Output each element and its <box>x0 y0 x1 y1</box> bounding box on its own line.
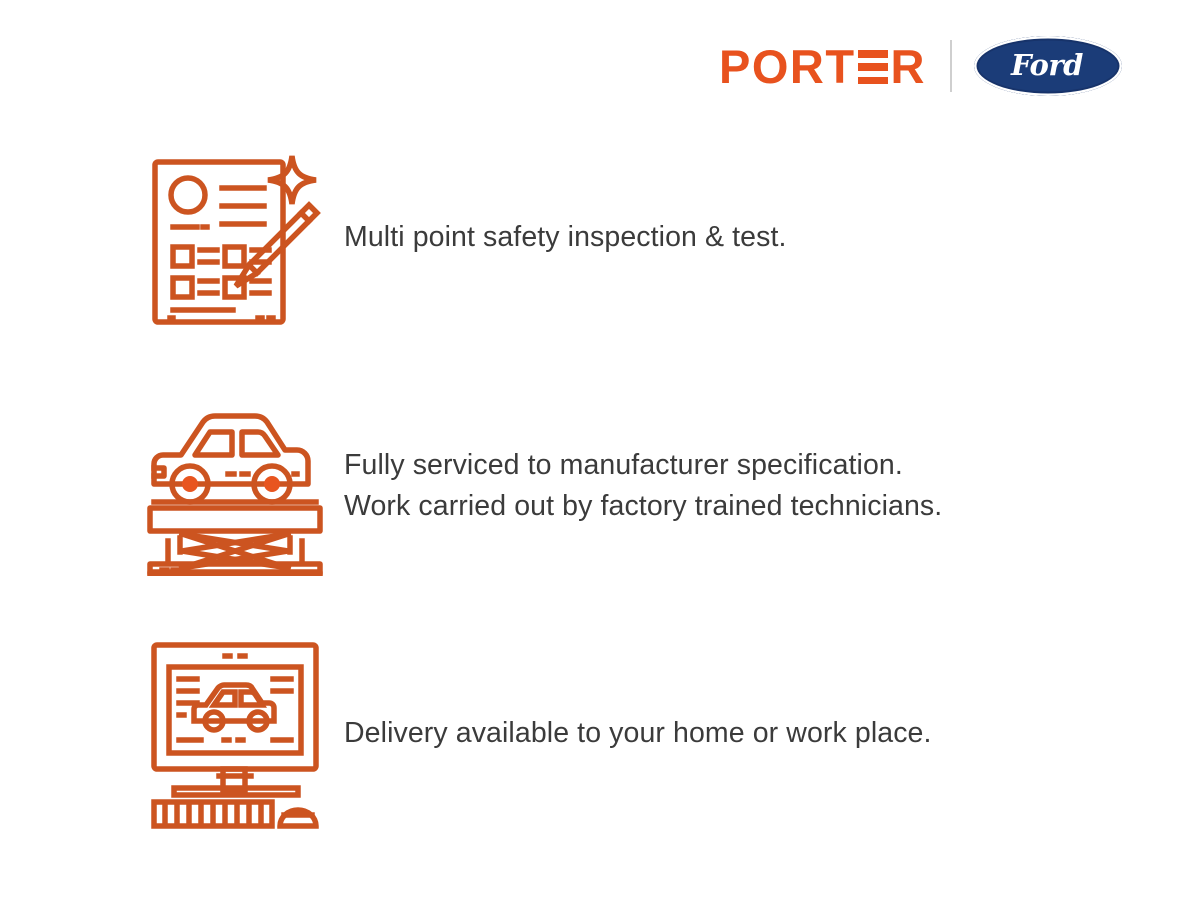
feature-text: Multi point safety inspection & test. <box>324 217 1126 258</box>
clipboard-inspection-icon <box>146 148 324 328</box>
feature-row: Delivery available to your home or work … <box>146 644 1126 824</box>
feature-text-line: Delivery available to your home or work … <box>344 713 1126 754</box>
car-on-lift-icon <box>146 396 324 576</box>
porter-wordmark-text: PORT R <box>719 43 926 90</box>
feature-list: Multi point safety inspection & test. <box>146 148 1126 824</box>
ford-logo-text: Ford <box>1011 48 1083 82</box>
ford-logo: Ford <box>974 36 1122 96</box>
feature-text-line: Multi point safety inspection & test. <box>344 217 1126 258</box>
brand-divider <box>950 40 952 92</box>
promo-page: PORT R Ford <box>0 0 1200 900</box>
porter-text-part-2: R <box>891 43 926 90</box>
feature-row: Multi point safety inspection & test. <box>146 148 1126 328</box>
porter-text-part-1: PORT <box>719 43 856 90</box>
porter-stylised-e-glyph <box>858 50 888 84</box>
feature-text: Delivery available to your home or work … <box>324 713 1126 754</box>
feature-text-line: Fully serviced to manufacturer specifica… <box>344 445 1126 486</box>
feature-text: Fully serviced to manufacturer specifica… <box>324 445 1126 528</box>
monitor-delivery-icon <box>146 644 324 824</box>
feature-row: Fully serviced to manufacturer specifica… <box>146 396 1126 576</box>
feature-text-line: Work carried out by factory trained tech… <box>344 486 1126 527</box>
porter-logo: PORT R <box>719 43 926 89</box>
brand-bar: PORT R Ford <box>719 32 1122 100</box>
